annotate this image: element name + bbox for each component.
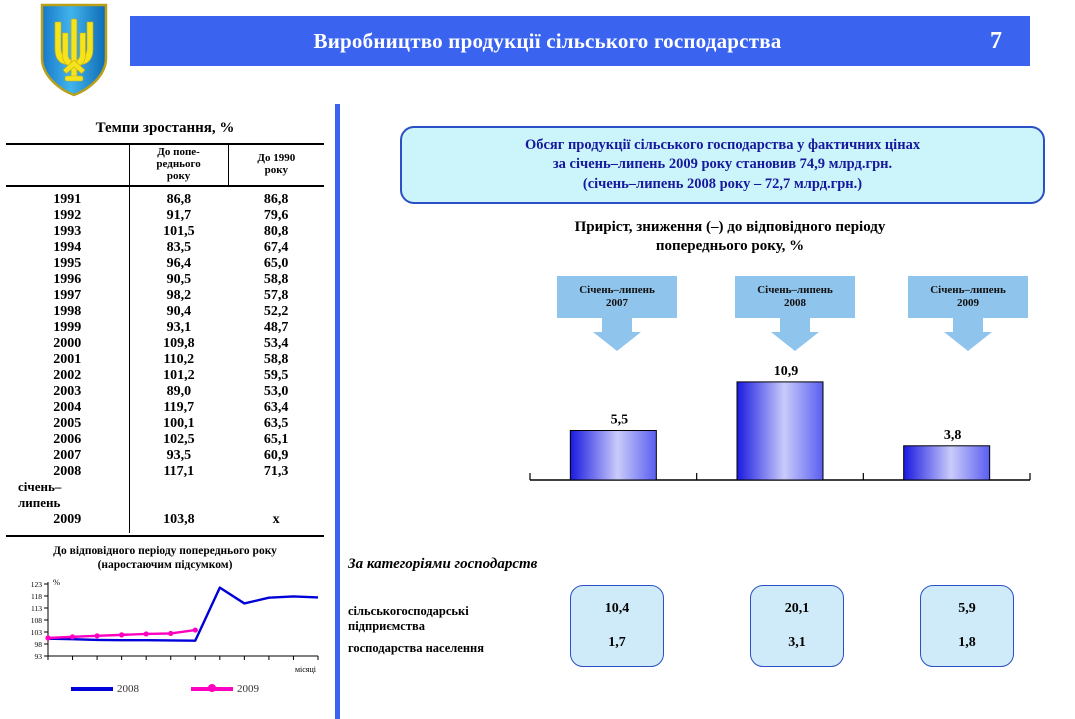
rates-panel: Темпи зростання, % До попе- реднього рок…	[6, 120, 324, 537]
cell-year: 1996	[6, 272, 129, 288]
line-chart-y-tick-label: 118	[31, 592, 42, 601]
line-chart-y-tick-label: 113	[31, 604, 42, 613]
info-line-1: Обсяг продукції сільського господарства …	[525, 137, 920, 154]
cell-year: 2009	[6, 512, 129, 528]
cell-prev-year: 93,5	[129, 448, 228, 464]
cell-prev-year: 102,5	[129, 432, 228, 448]
cell-base-1990: 52,2	[228, 304, 324, 320]
table-row: 199890,452,2	[6, 304, 324, 320]
header-bar: Виробництво продукції сільського господа…	[130, 16, 1030, 66]
table-row: 1993101,580,8	[6, 224, 324, 240]
cell-prev-year: 89,0	[129, 384, 228, 400]
legend-label-2009: 2009	[237, 683, 259, 695]
column-header-base-1990-line2: року	[232, 165, 321, 177]
line-chart-plot: 9398103108113118123%місяці	[4, 574, 326, 682]
growth-heading-line2: попереднього року, %	[440, 237, 1020, 256]
info-callout-box: Обсяг продукції сільського господарства …	[400, 126, 1045, 204]
category-box-2008-enterprises: 20,1	[785, 601, 810, 617]
arrow-stem-2008-icon	[780, 318, 810, 332]
bar-value-label-3: 3,8	[944, 428, 962, 443]
table-row: 2006102,565,1	[6, 432, 324, 448]
legend-swatch-2009-icon	[191, 687, 233, 691]
cell-year: 1999	[6, 320, 129, 336]
categories-heading: За категоріями господарств	[348, 556, 537, 573]
cell-base-1990: 79,6	[228, 208, 324, 224]
rates-table-title: Темпи зростання, %	[6, 120, 324, 137]
rates-table-body: 199186,886,8199291,779,61993101,580,8199…	[6, 186, 324, 533]
period-box-2009: Січень–липень 2009	[908, 276, 1028, 318]
line-chart-y-tick-label: 93	[35, 652, 43, 661]
period-2007-line2: 2007	[606, 297, 628, 310]
cell-base-1990: 57,8	[228, 288, 324, 304]
bar-3	[904, 446, 990, 480]
cell-year: 1993	[6, 224, 129, 240]
cell-base-1990: 65,1	[228, 432, 324, 448]
period-arrow-2009: Січень–липень 2009	[908, 276, 1028, 352]
cell-base-1990: 53,4	[228, 336, 324, 352]
column-header-prev-year: До попе- реднього року	[129, 144, 228, 186]
cell-year: 2005	[6, 416, 129, 432]
period-2009-line1: Січень–липень	[930, 284, 1006, 297]
cell-prev-year: 109,8	[129, 336, 228, 352]
cell-base-1990: 58,8	[228, 352, 324, 368]
cell-base-1990: 67,4	[228, 240, 324, 256]
table-row: 200389,053,0	[6, 384, 324, 400]
line-chart-panel: До відповідного періоду попереднього рок…	[4, 544, 326, 714]
cell-year: 2002	[6, 368, 129, 384]
cell-year: 1991	[6, 192, 129, 208]
period-box-2008: Січень–липень 2008	[735, 276, 855, 318]
cell-year: 1998	[6, 304, 129, 320]
category-box-2009-enterprises: 5,9	[958, 601, 976, 617]
cell-prev-year: 91,7	[129, 208, 228, 224]
table-spacer-row	[6, 528, 324, 533]
cell-empty	[129, 480, 228, 496]
bar-value-label-2: 10,9	[774, 364, 799, 379]
cell-base-1990: 63,5	[228, 416, 324, 432]
table-row: 199690,558,8	[6, 272, 324, 288]
cell-base-1990: 80,8	[228, 224, 324, 240]
vertical-divider	[335, 104, 340, 719]
growth-bar-chart: 5,510,93,8	[520, 345, 1040, 505]
cell-base-1990: 65,0	[228, 256, 324, 272]
cell-prev-year: 117,1	[129, 464, 228, 480]
table-row: 2004119,763,4	[6, 400, 324, 416]
cell-base-1990: 86,8	[228, 192, 324, 208]
table-header-row: До попе- реднього року До 1990 року	[6, 144, 324, 186]
table-row: 199993,148,7	[6, 320, 324, 336]
line-chart-title-line2: (наростаючим підсумком)	[4, 558, 326, 572]
line-chart-title-line1: До відповідного періоду попереднього рок…	[4, 544, 326, 558]
line-chart-marker-2009	[193, 628, 198, 633]
line-chart-marker-2009	[144, 631, 149, 636]
line-chart-marker-2009	[70, 634, 75, 639]
cell-empty	[228, 480, 324, 496]
arrow-stem-2007-icon	[602, 318, 632, 332]
cell-empty	[129, 496, 228, 512]
period-2009-line2: 2009	[957, 297, 979, 310]
cell-base-1990: 63,4	[228, 400, 324, 416]
cell-prev-year: 100,1	[129, 416, 228, 432]
cell-prev-year: 93,1	[129, 320, 228, 336]
period-arrow-2008: Січень–липень 2008	[735, 276, 855, 352]
period-arrow-2007: Січень–липень 2007	[557, 276, 677, 352]
cell-base-1990: 71,3	[228, 464, 324, 480]
cell-empty	[6, 528, 129, 533]
category-box-2007: 10,4 1,7	[570, 585, 664, 667]
column-header-prev-year-line2: реднього	[133, 159, 225, 171]
line-chart-x-axis-label: місяці	[295, 665, 317, 674]
cell-base-1990: 60,9	[228, 448, 324, 464]
period-2008-line1: Січень–липень	[757, 284, 833, 297]
table-row: 199186,886,8	[6, 192, 324, 208]
table-row-period-label2: липень	[6, 496, 324, 512]
line-chart-y-unit-label: %	[53, 577, 60, 587]
table-row: 2005100,163,5	[6, 416, 324, 432]
rates-table: До попе- реднього року До 1990 року 1991…	[6, 143, 324, 533]
table-row: 199291,779,6	[6, 208, 324, 224]
cell-prev-year: 98,2	[129, 288, 228, 304]
cell-prev-year: 110,2	[129, 352, 228, 368]
cell-year: 2007	[6, 448, 129, 464]
page-number: 7	[990, 16, 1002, 66]
column-header-year	[6, 144, 129, 186]
arrow-stem-2009-icon	[953, 318, 983, 332]
info-line-3: (січень–липень 2008 року – 72,7 млрд.грн…	[583, 176, 862, 193]
legend-label-2008: 2008	[117, 683, 139, 695]
ukraine-coat-of-arms-icon	[38, 2, 110, 98]
cell-year: 2006	[6, 432, 129, 448]
cell-year: 2000	[6, 336, 129, 352]
bar-2	[737, 382, 823, 480]
line-chart-marker-2009	[119, 632, 124, 637]
table-row: 199596,465,0	[6, 256, 324, 272]
line-chart-y-tick-label: 108	[31, 616, 43, 625]
period-2008-line2: 2008	[784, 297, 806, 310]
category-box-2009: 5,9 1,8	[920, 585, 1014, 667]
table-row: 2002101,259,5	[6, 368, 324, 384]
growth-section-heading: Приріст, зниження (–) до відповідного пе…	[440, 218, 1020, 256]
line-chart-marker-2009	[168, 631, 173, 636]
cell-period-line1: січень–	[6, 480, 129, 496]
category-box-2007-households: 1,7	[608, 635, 626, 651]
cell-year: 1997	[6, 288, 129, 304]
period-2007-line1: Січень–липень	[579, 284, 655, 297]
info-line-2: за січень–липень 2009 року становив 74,9…	[553, 156, 892, 173]
cell-base-1990: 48,7	[228, 320, 324, 336]
cell-year: 1995	[6, 256, 129, 272]
cell-prev-year: 119,7	[129, 400, 228, 416]
category-label-enterprises: сільськогосподарські підприємства	[348, 604, 548, 634]
cell-prev-year: 96,4	[129, 256, 228, 272]
category-box-2009-households: 1,8	[958, 635, 976, 651]
column-header-base-1990: До 1990 року	[228, 144, 324, 186]
cell-year: 2008	[6, 464, 129, 480]
legend-item-2008: 2008	[71, 683, 139, 695]
cell-prev-year: 90,5	[129, 272, 228, 288]
category-label-enterprises-line1: сільськогосподарські	[348, 604, 548, 619]
category-box-2008-households: 3,1	[788, 635, 806, 651]
line-chart-title: До відповідного періоду попереднього рок…	[4, 544, 326, 572]
line-chart-marker-2009	[94, 633, 99, 638]
table-row: 199483,567,4	[6, 240, 324, 256]
cell-base-1990: x	[228, 512, 324, 528]
table-row: 2008117,171,3	[6, 464, 324, 480]
table-row-final: 2009103,8x	[6, 512, 324, 528]
column-header-prev-year-line3: року	[133, 171, 225, 183]
table-row: 199798,257,8	[6, 288, 324, 304]
growth-heading-line1: Приріст, зниження (–) до відповідного пе…	[440, 218, 1020, 237]
cell-prev-year: 86,8	[129, 192, 228, 208]
cell-prev-year: 101,2	[129, 368, 228, 384]
cell-year: 2004	[6, 400, 129, 416]
cell-empty	[228, 528, 324, 533]
line-chart-legend: 2008 2009	[4, 683, 326, 695]
bar-value-label-1: 5,5	[611, 413, 629, 428]
table-row: 200793,560,9	[6, 448, 324, 464]
cell-prev-year: 90,4	[129, 304, 228, 320]
legend-swatch-2008-icon	[71, 687, 113, 691]
cell-prev-year: 101,5	[129, 224, 228, 240]
table-bottom-rule	[6, 535, 324, 537]
table-row: 2001110,258,8	[6, 352, 324, 368]
cell-prev-year: 103,8	[129, 512, 228, 528]
cell-base-1990: 58,8	[228, 272, 324, 288]
cell-empty	[228, 496, 324, 512]
page-title: Виробництво продукції сільського господа…	[130, 16, 965, 66]
bar-1	[570, 431, 656, 481]
category-box-2008: 20,1 3,1	[750, 585, 844, 667]
line-chart-y-tick-label: 98	[35, 640, 43, 649]
category-label-enterprises-line2: підприємства	[348, 619, 548, 634]
cell-empty	[129, 528, 228, 533]
cell-year: 1994	[6, 240, 129, 256]
legend-item-2009: 2009	[191, 683, 259, 695]
line-chart-marker-2009	[45, 635, 50, 640]
cell-period-line2: липень	[6, 496, 129, 512]
category-label-households: господарства населення	[348, 641, 548, 656]
table-row: 2000109,853,4	[6, 336, 324, 352]
cell-year: 2003	[6, 384, 129, 400]
cell-base-1990: 59,5	[228, 368, 324, 384]
category-box-2007-enterprises: 10,4	[605, 601, 630, 617]
table-row-period-label: січень–	[6, 480, 324, 496]
cell-prev-year: 83,5	[129, 240, 228, 256]
period-box-2007: Січень–липень 2007	[557, 276, 677, 318]
line-chart-y-tick-label: 123	[31, 580, 43, 589]
cell-year: 1992	[6, 208, 129, 224]
line-chart-y-tick-label: 103	[31, 628, 43, 637]
cell-base-1990: 53,0	[228, 384, 324, 400]
cell-year: 2001	[6, 352, 129, 368]
